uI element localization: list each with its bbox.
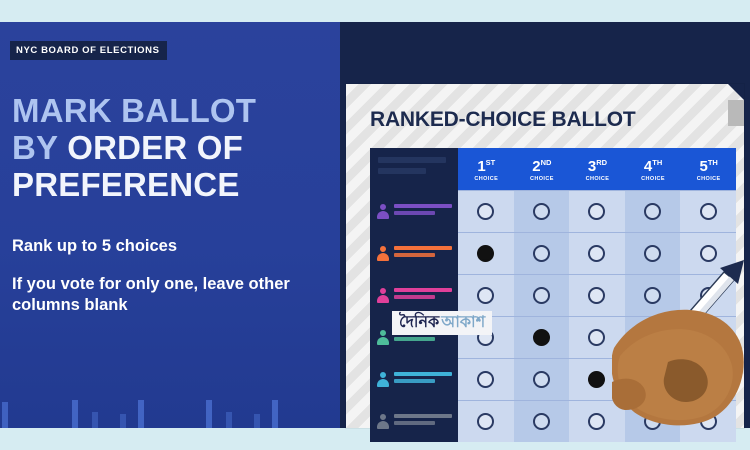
ballot-cell-r1-c1[interactable] bbox=[458, 190, 514, 232]
candidate-name-bars bbox=[394, 204, 452, 218]
ballot-cell-r3-c2[interactable] bbox=[514, 274, 570, 316]
ballot-cell-r1-c4[interactable] bbox=[625, 190, 681, 232]
ballot-cell-r3-c1[interactable] bbox=[458, 274, 514, 316]
header-choice-1: 1STCHOICE bbox=[458, 148, 514, 190]
decor-bar-8 bbox=[254, 414, 260, 428]
header-choice-number-4: 4TH bbox=[644, 156, 662, 174]
header-candidate-column bbox=[370, 148, 458, 190]
headline-line-2: BY ORDER OF bbox=[12, 129, 332, 166]
bubble-empty[interactable] bbox=[533, 203, 550, 220]
subcopy-line-1: Rank up to 5 choices bbox=[12, 236, 312, 256]
subcopy-block: Rank up to 5 choices If you vote for onl… bbox=[12, 236, 312, 316]
candidate-name-bars bbox=[394, 414, 452, 428]
header-choice-label-2: CHOICE bbox=[530, 176, 554, 182]
bubble-empty[interactable] bbox=[533, 413, 550, 430]
bubble-empty[interactable] bbox=[533, 371, 550, 388]
ballot-table-header: 1STCHOICE2NDCHOICE3RDCHOICE4THCHOICE5THC… bbox=[370, 148, 736, 190]
person-icon bbox=[376, 246, 389, 261]
bubble-empty[interactable] bbox=[588, 203, 605, 220]
decor-bar-7 bbox=[226, 412, 232, 428]
header-choice-number-2: 2ND bbox=[532, 156, 551, 174]
decor-bar-1 bbox=[2, 402, 8, 428]
header-choice-label-5: CHOICE bbox=[697, 176, 721, 182]
person-icon bbox=[376, 372, 389, 387]
bubble-empty[interactable] bbox=[533, 287, 550, 304]
header-choice-number-5: 5TH bbox=[700, 156, 718, 174]
candidate-cell-6 bbox=[370, 400, 458, 442]
ballot-cell-r2-c1[interactable] bbox=[458, 232, 514, 274]
headline-line-2-light: BY bbox=[12, 129, 58, 166]
candidate-name-bars bbox=[394, 288, 452, 302]
headline-block: MARK BALLOT BY ORDER OF PREFERENCE bbox=[12, 92, 332, 203]
header-choice-4: 4THCHOICE bbox=[625, 148, 681, 190]
ballot-cell-r5-c2[interactable] bbox=[514, 358, 570, 400]
infographic-canvas: NYC BOARD OF ELECTIONS MARK BALLOT BY OR… bbox=[0, 0, 750, 450]
candidate-cell-2 bbox=[370, 232, 458, 274]
paper-fold-corner bbox=[728, 84, 744, 100]
watermark: দৈনিক আকাশ bbox=[392, 311, 492, 335]
bubble-empty[interactable] bbox=[533, 245, 550, 262]
header-placeholder-bar-2 bbox=[378, 168, 426, 174]
header-choice-2: 2NDCHOICE bbox=[514, 148, 570, 190]
decor-bar-2 bbox=[72, 400, 78, 428]
ballot-cell-r6-c1[interactable] bbox=[458, 400, 514, 442]
candidate-name-bars bbox=[394, 246, 452, 260]
header-choice-label-1: CHOICE bbox=[474, 176, 498, 182]
ballot-cell-r1-c3[interactable] bbox=[569, 190, 625, 232]
bubble-filled[interactable] bbox=[477, 245, 494, 262]
bubble-filled[interactable] bbox=[588, 371, 605, 388]
ballot-cell-r2-c2[interactable] bbox=[514, 232, 570, 274]
decorative-bars bbox=[0, 396, 340, 428]
decor-bar-9 bbox=[272, 400, 278, 428]
top-border-strip bbox=[0, 0, 750, 22]
bubble-empty[interactable] bbox=[477, 413, 494, 430]
header-choice-number-3: 3RD bbox=[588, 156, 607, 174]
header-choice-number-1: 1ST bbox=[477, 156, 495, 174]
subcopy-line-2: If you vote for only one, leave other co… bbox=[12, 274, 312, 316]
ballot-title: RANKED-CHOICE BALLOT bbox=[370, 108, 635, 132]
headline-line-1: MARK BALLOT bbox=[12, 92, 332, 129]
candidate-name-bars bbox=[394, 372, 452, 386]
ballot-cell-r1-c2[interactable] bbox=[514, 190, 570, 232]
bubble-empty[interactable] bbox=[477, 287, 494, 304]
watermark-part-1: দৈনিক bbox=[399, 314, 439, 331]
header-choice-label-4: CHOICE bbox=[641, 176, 665, 182]
bubble-empty[interactable] bbox=[588, 245, 605, 262]
header-choice-label-3: CHOICE bbox=[586, 176, 610, 182]
decor-bar-5 bbox=[138, 400, 144, 428]
bubble-empty[interactable] bbox=[588, 329, 605, 346]
watermark-part-2: আকাশ bbox=[441, 314, 485, 331]
person-icon bbox=[376, 204, 389, 219]
decor-bar-4 bbox=[120, 414, 126, 428]
person-icon bbox=[376, 414, 389, 429]
ballot-cell-r6-c2[interactable] bbox=[514, 400, 570, 442]
header-choice-3: 3RDCHOICE bbox=[569, 148, 625, 190]
candidate-cell-3 bbox=[370, 274, 458, 316]
paper-fold-shadow bbox=[728, 100, 744, 126]
ballot-cell-r1-c5[interactable] bbox=[680, 190, 736, 232]
header-choice-5: 5THCHOICE bbox=[680, 148, 736, 190]
candidate-cell-5 bbox=[370, 358, 458, 400]
bubble-filled[interactable] bbox=[533, 329, 550, 346]
bubble-empty[interactable] bbox=[588, 413, 605, 430]
person-icon bbox=[376, 330, 389, 345]
bubble-empty[interactable] bbox=[700, 203, 717, 220]
bubble-empty[interactable] bbox=[477, 203, 494, 220]
left-panel-background bbox=[0, 22, 340, 428]
ballot-cell-r4-c2[interactable] bbox=[514, 316, 570, 358]
headline-line-3: PREFERENCE bbox=[12, 166, 332, 203]
ballot-row bbox=[370, 190, 736, 232]
decor-bar-3 bbox=[92, 412, 98, 428]
ballot-cell-r5-c1[interactable] bbox=[458, 358, 514, 400]
decor-bar-6 bbox=[206, 400, 212, 428]
bubble-empty[interactable] bbox=[588, 287, 605, 304]
hand-icon bbox=[612, 310, 744, 426]
hand-with-pen-illustration bbox=[612, 252, 750, 428]
candidate-cell-1 bbox=[370, 190, 458, 232]
organization-badge: NYC BOARD OF ELECTIONS bbox=[10, 41, 167, 60]
person-icon bbox=[376, 288, 389, 303]
bubble-empty[interactable] bbox=[644, 203, 661, 220]
header-placeholder-bar-1 bbox=[378, 157, 446, 163]
headline-line-2-bold: ORDER OF bbox=[67, 129, 243, 166]
bubble-empty[interactable] bbox=[477, 371, 494, 388]
